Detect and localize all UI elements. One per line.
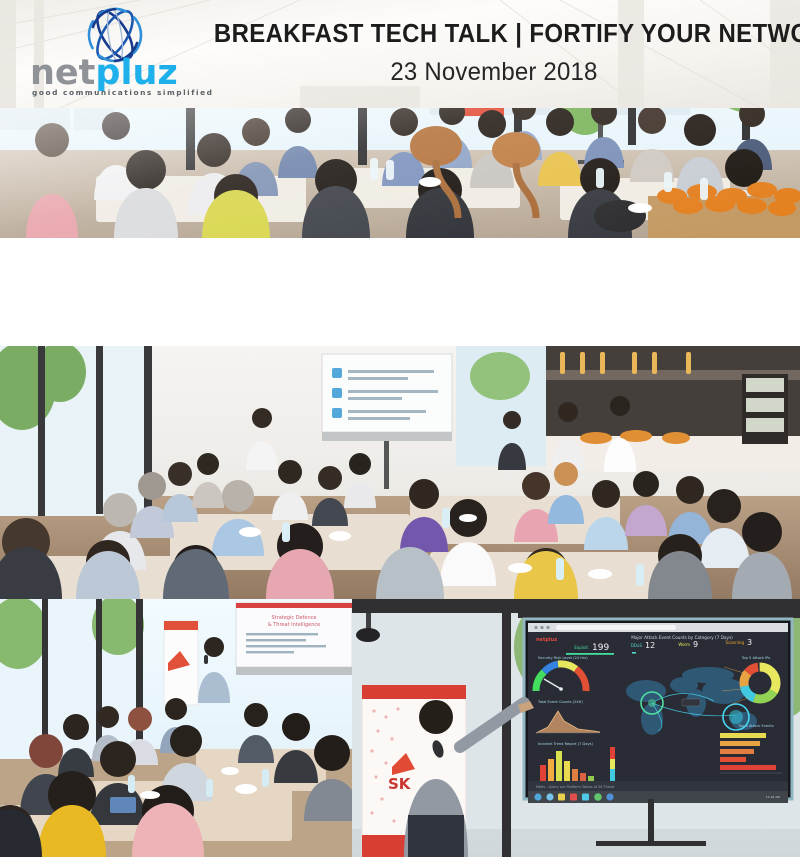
photo-bottom-left-artwork: Strategic Defence & Threat Intelligence bbox=[0, 599, 352, 857]
netpluz-wordmark: netpluz bbox=[30, 58, 202, 88]
logo-word-net: net bbox=[30, 53, 95, 93]
event-headline: BREAKFAST TECH TALK | FORTIFY YOUR NETWO… bbox=[214, 20, 774, 49]
event-date: 23 November 2018 bbox=[208, 58, 780, 87]
event-title-banner: netpluz good communications simplified B… bbox=[0, 0, 800, 108]
logo-word-pluz: pluz bbox=[95, 53, 177, 93]
photo-bottom-right-artwork: SK netpluz Major Attack Event Counts by … bbox=[352, 599, 800, 857]
photo-middle-audience-wide bbox=[0, 346, 800, 599]
netpluz-tagline: good communications simplified bbox=[32, 88, 208, 97]
photo-middle-artwork bbox=[0, 346, 800, 599]
photo-bottom-left-audience-rear: Strategic Defence & Threat Intelligence bbox=[0, 599, 352, 857]
netpluz-logo: netpluz good communications simplified bbox=[22, 4, 202, 104]
photo-bottom-right-dashboard-demo: SK netpluz Major Attack Event Counts by … bbox=[352, 599, 800, 857]
event-photo-collage: Managed Services Portfolio bbox=[0, 0, 800, 857]
